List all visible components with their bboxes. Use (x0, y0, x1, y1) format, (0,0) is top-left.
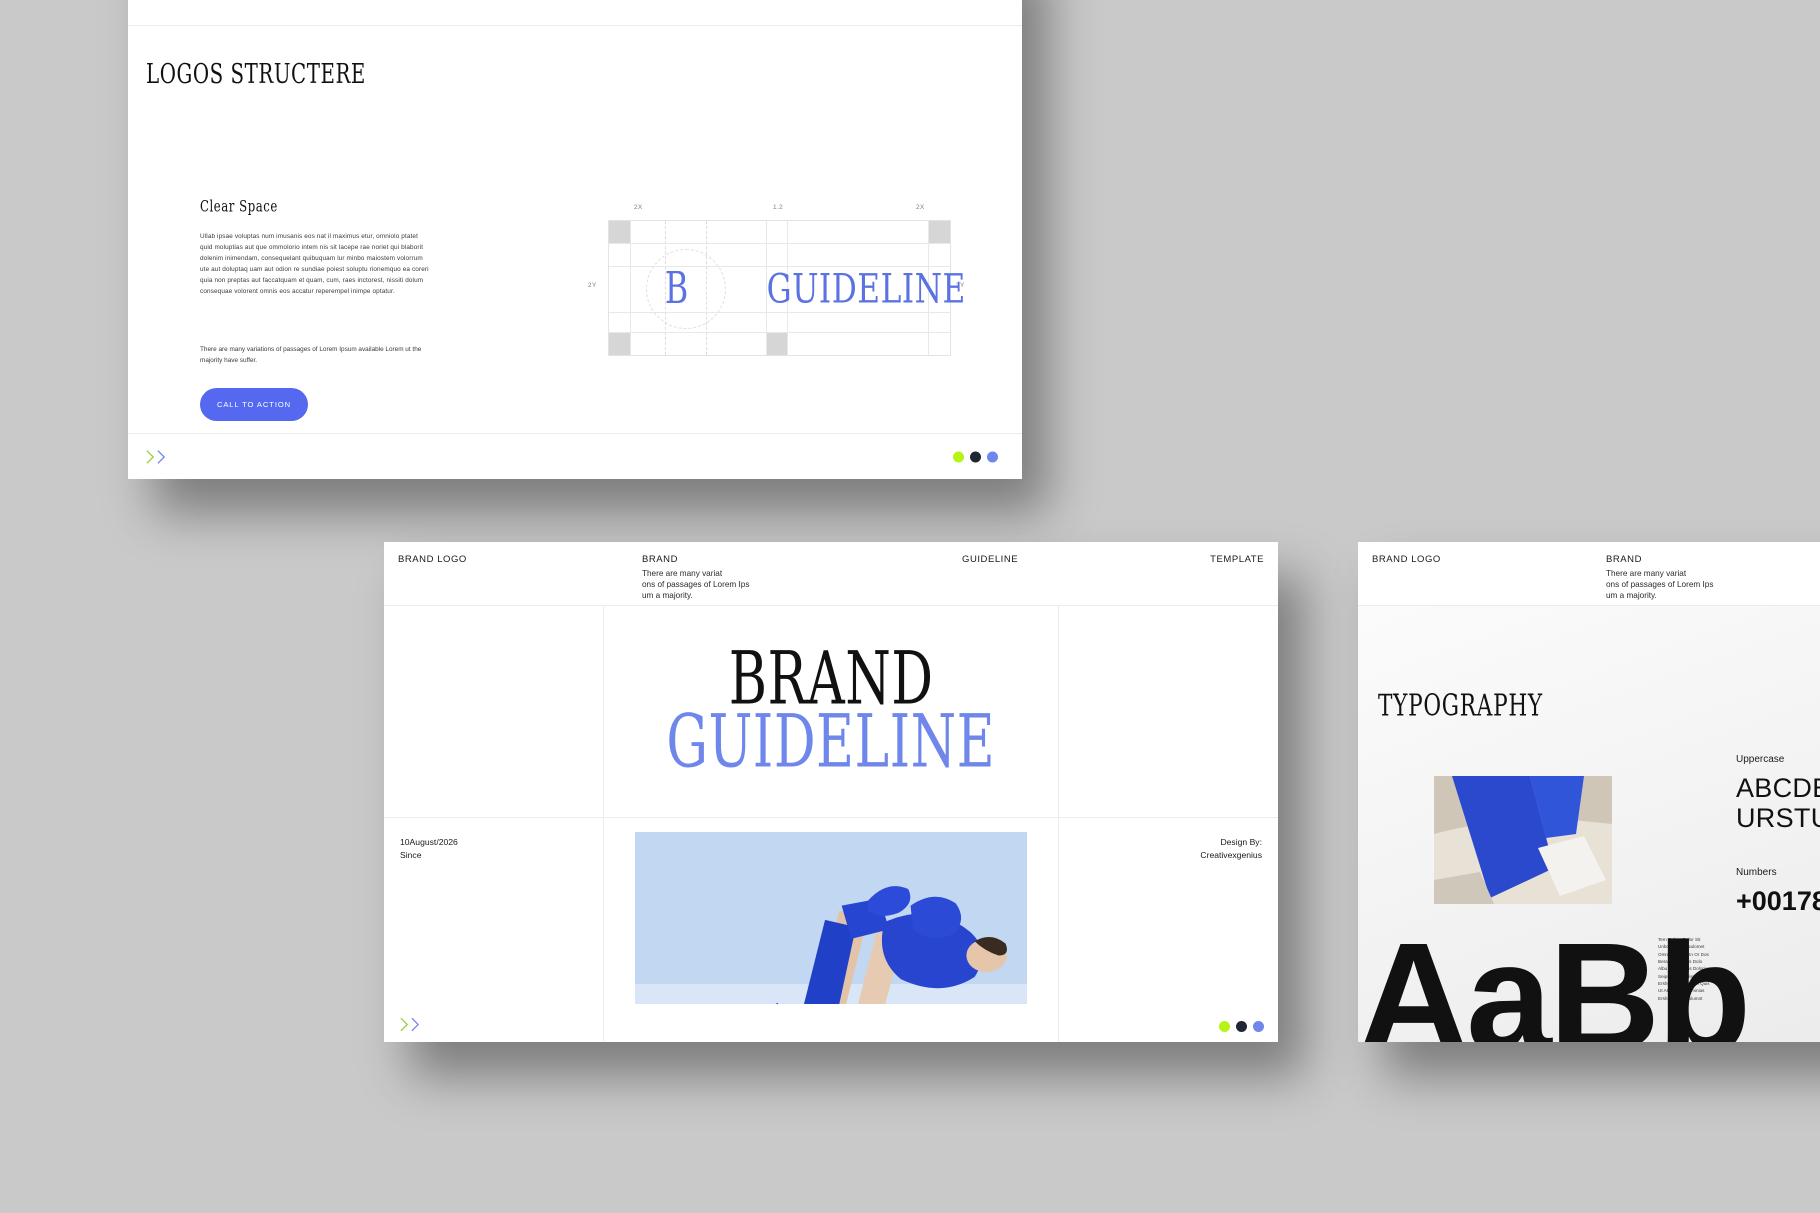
grid-line-v-3 (787, 221, 788, 355)
palette-dot-dark (970, 451, 981, 462)
cover-chevron-lime-icon (400, 1017, 409, 1032)
cover-cell-top-left (384, 606, 604, 818)
cover-designer-block: Design By: Creativexgenius (1200, 836, 1262, 862)
grid-swatch-bottom-left (609, 333, 630, 355)
grid-swatch-top-left (609, 221, 630, 243)
grid-line-v-1 (630, 221, 631, 355)
grid-mark-top-center: 1.2 (773, 204, 783, 211)
cover-palette-dot-dark (1236, 1021, 1247, 1032)
typography-photo-figure (1434, 776, 1612, 904)
typography-header-brand-description: There are many variat ons of passages of… (1606, 568, 1713, 601)
cover-palette-dot-blue (1253, 1021, 1264, 1032)
cover-header-brand-block: BRAND There are many variat ons of passa… (642, 554, 749, 601)
typography-numbers-sample: +0017896645 (1736, 886, 1820, 917)
chevron-blue-icon (157, 449, 166, 464)
cover-header-template: TEMPLATE (1210, 554, 1264, 565)
cover-slide-header: BRAND LOGO BRAND There are many variat o… (384, 542, 1278, 606)
slide-logos-structure[interactable]: BRAND There are many variat ons of passa… (128, 0, 1022, 479)
logos-slide-body: LOGOS STRUCTERE Clear Space Ullab ipsae … (128, 26, 1022, 433)
typography-numbers-kicker: Numbers (1736, 867, 1820, 878)
cover-cell-bottom-left: 10August/2026 Since (384, 818, 604, 1042)
cover-chevron-blue-icon (411, 1017, 420, 1032)
grid-line-h-1 (609, 243, 950, 244)
typography-uppercase-sample: ABCDEFGHIJKLMNOPQ URSTUVWXYZ (1736, 773, 1820, 833)
typography-header-brand-logo: BRAND LOGO (1372, 554, 1441, 565)
typography-display-sample: AaBb (1358, 920, 1748, 1042)
cover-palette-dot-lime (1219, 1021, 1230, 1032)
typography-uppercase-kicker: Uppercase (1736, 754, 1820, 765)
grid-line-v-2 (766, 221, 767, 355)
cover-header-guideline: GUIDELINE (962, 554, 1018, 565)
cover-cell-top-right (1058, 606, 1278, 818)
cover-header-brand-label: BRAND (642, 554, 749, 565)
cover-title-block: BRAND GUIDELINE (604, 606, 1058, 817)
typography-header-brand-block: BRAND There are many variat ons of passa… (1606, 554, 1713, 601)
palette-dot-lime (953, 451, 964, 462)
grid-mark-left: 2Y (588, 282, 597, 289)
typography-slide-body: TYPOGRAPHY Uppercase ABCDEFGHIJKLMNOPQ U… (1358, 606, 1820, 1042)
grid-swatch-top-right (929, 221, 950, 243)
color-palette-dots (953, 451, 998, 462)
cover-date-block: 10August/2026 Since (400, 836, 458, 862)
chevron-lime-icon (146, 449, 155, 464)
logo-wordmark: GUIDELINE (767, 269, 966, 309)
clear-space-heading: Clear Space (200, 198, 278, 216)
cover-cell-bottom-right: Design By: Creativexgenius (1058, 818, 1278, 1042)
typography-header-brand-label: BRAND (1606, 554, 1713, 565)
cover-cell-photo (604, 818, 1058, 1042)
logo-construction-grid: B GUIDELINE (608, 220, 951, 356)
typography-specimen-block: Uppercase ABCDEFGHIJKLMNOPQ URSTUVWXYZ N… (1736, 754, 1820, 917)
logos-slide-footer (128, 433, 1022, 479)
call-to-action-button[interactable]: CALL TO ACTION (200, 388, 308, 421)
logos-slide-header: BRAND There are many variat ons of passa… (128, 0, 1022, 26)
typography-page-title: TYPOGRAPHY (1378, 688, 1543, 723)
grid-mark-top-left: 2X (634, 204, 643, 211)
clear-space-note-text: There are many variations of passages of… (200, 344, 432, 366)
logos-page-title: LOGOS STRUCTERE (146, 60, 366, 91)
cover-double-chevron-icon (400, 1017, 420, 1032)
cover-color-palette-dots (1219, 1021, 1264, 1032)
grid-line-h-4 (609, 332, 950, 333)
double-chevron-icon (146, 449, 166, 464)
cover-header-brand-description: There are many variat ons of passages of… (642, 568, 749, 601)
grid-mark-top-right: 2X (916, 204, 925, 211)
cover-header-brand-logo: BRAND LOGO (398, 554, 467, 565)
cover-layout-grid: BRAND GUIDELINE 10August/2026 Since (384, 606, 1278, 1042)
palette-dot-blue (987, 451, 998, 462)
cover-photo (635, 832, 1027, 1004)
slide-typography[interactable]: BRAND LOGO BRAND There are many variat o… (1358, 542, 1820, 1042)
grid-line-v-4 (928, 221, 929, 355)
cover-photo-figure (635, 832, 1027, 1004)
grid-mark-right: 2Y (956, 282, 965, 289)
typography-photo (1434, 776, 1612, 904)
clear-space-body-text: Ullab ipsae voluptas num imusanis eos na… (200, 231, 432, 297)
logo-construction-grid-wrapper: 2X 1.2 2X 2Y 2Y 2X 1.2 2X (588, 204, 956, 356)
grid-swatch-bottom-center (766, 333, 787, 355)
grid-construction-circle (646, 249, 726, 329)
slide-brand-cover[interactable]: BRAND LOGO BRAND There are many variat o… (384, 542, 1278, 1042)
cover-cell-title: BRAND GUIDELINE (604, 606, 1058, 818)
cover-title-line-2: GUIDELINE (667, 709, 996, 776)
typography-slide-header: BRAND LOGO BRAND There are many variat o… (1358, 542, 1820, 606)
